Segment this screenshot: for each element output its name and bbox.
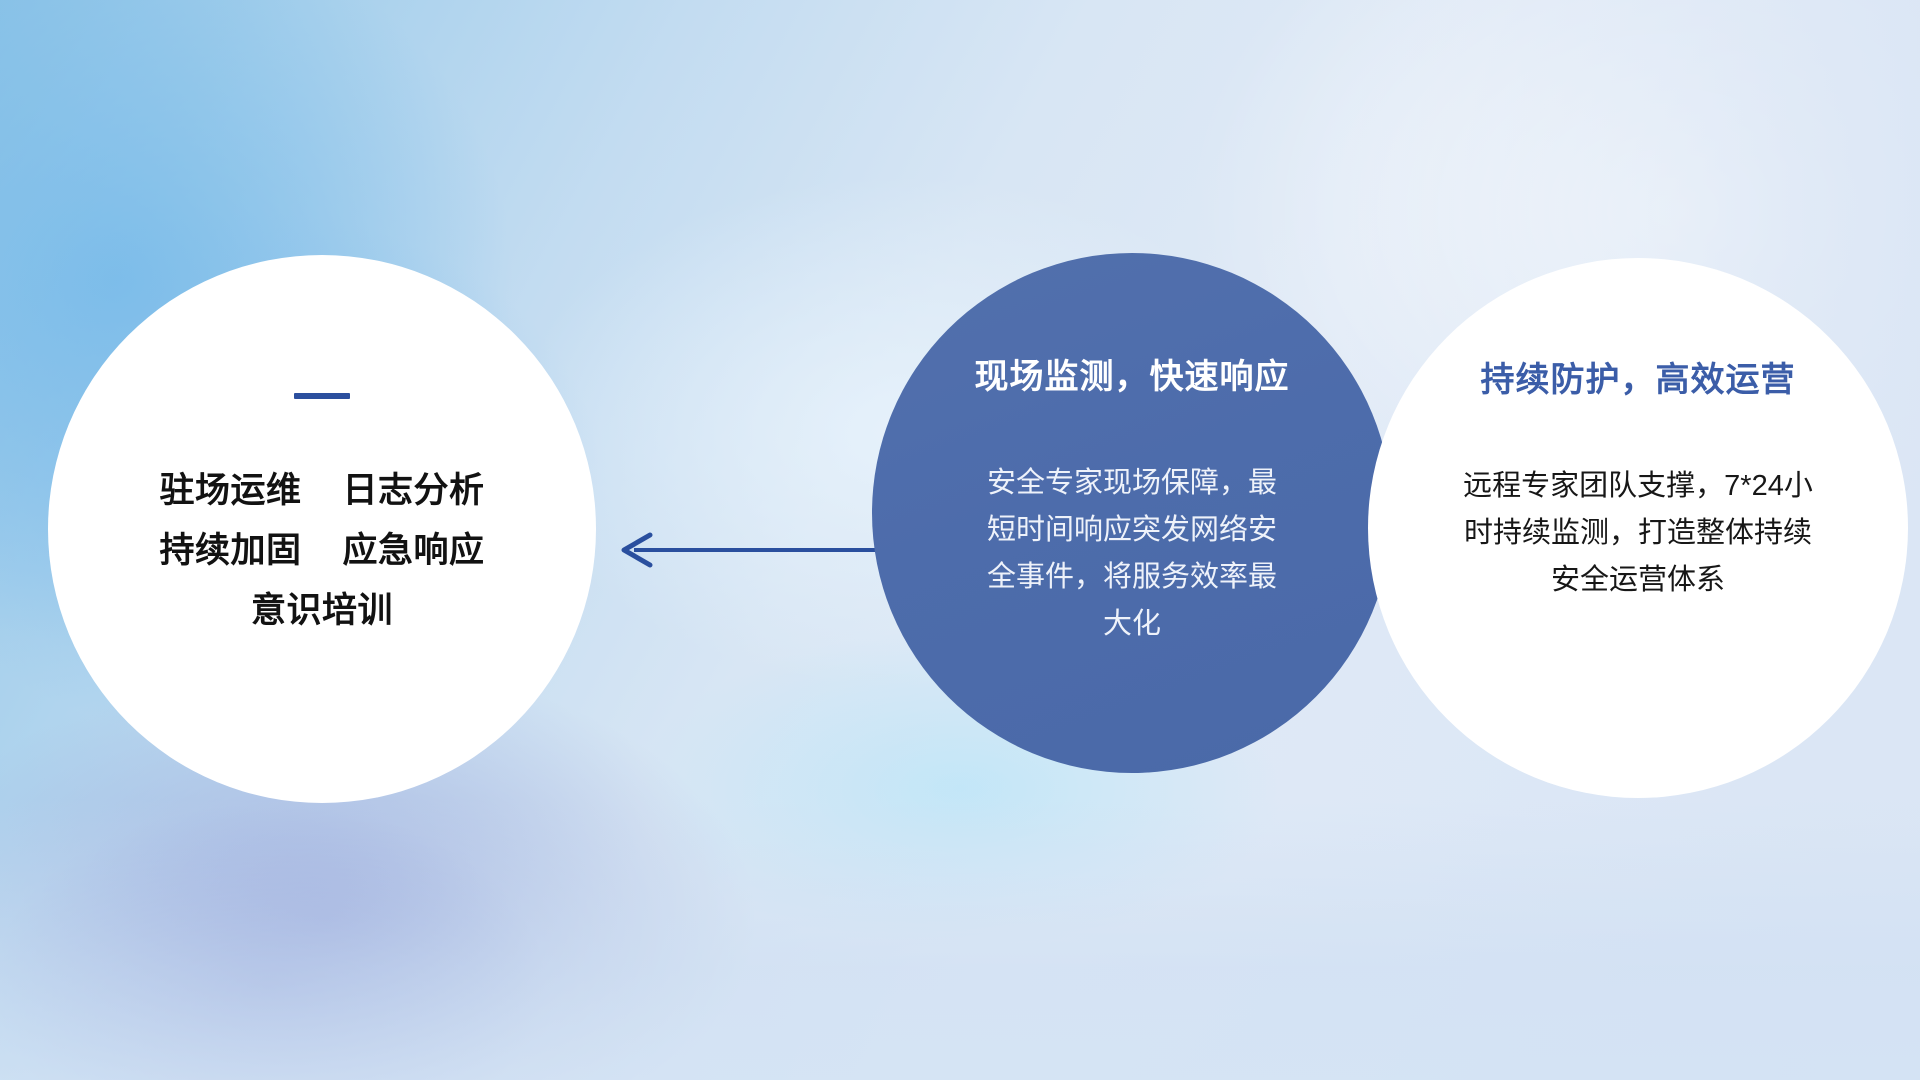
diagram-canvas: 驻场运维 日志分析 持续加固 应急响应 意识培训 现场监测，快速响应 安全专家现…	[0, 0, 1920, 1080]
background-fade-bottom	[0, 799, 1920, 1080]
capability-circle-right: 持续防护，高效运营 远程专家团队支撑，7*24小时持续监测，打造整体持续安全运营…	[1368, 258, 1908, 798]
circle-title: 现场监测，快速响应	[975, 349, 1290, 398]
circle-body: 安全专家现场保障，最短时间响应突发网络安全事件，将服务效率最大化	[973, 460, 1291, 648]
keyword-list: 驻场运维 日志分析 持续加固 应急响应 意识培训	[160, 461, 485, 642]
circle-title: 持续防护，高效运营	[1481, 352, 1796, 401]
circle-body: 远程专家团队支撑，7*24小时持续监测，打造整体持续安全运营体系	[1462, 463, 1814, 604]
keyword-row: 持续加固 应急响应	[160, 521, 485, 581]
keyword-row: 意识培训	[160, 581, 485, 641]
keyword-row: 驻场运维 日志分析	[160, 461, 485, 521]
capability-circle-left: 驻场运维 日志分析 持续加固 应急响应 意识培训	[48, 255, 596, 803]
dash-accent-icon	[294, 393, 350, 399]
capability-circle-middle: 现场监测，快速响应 安全专家现场保障，最短时间响应突发网络安全事件，将服务效率最…	[872, 253, 1392, 773]
